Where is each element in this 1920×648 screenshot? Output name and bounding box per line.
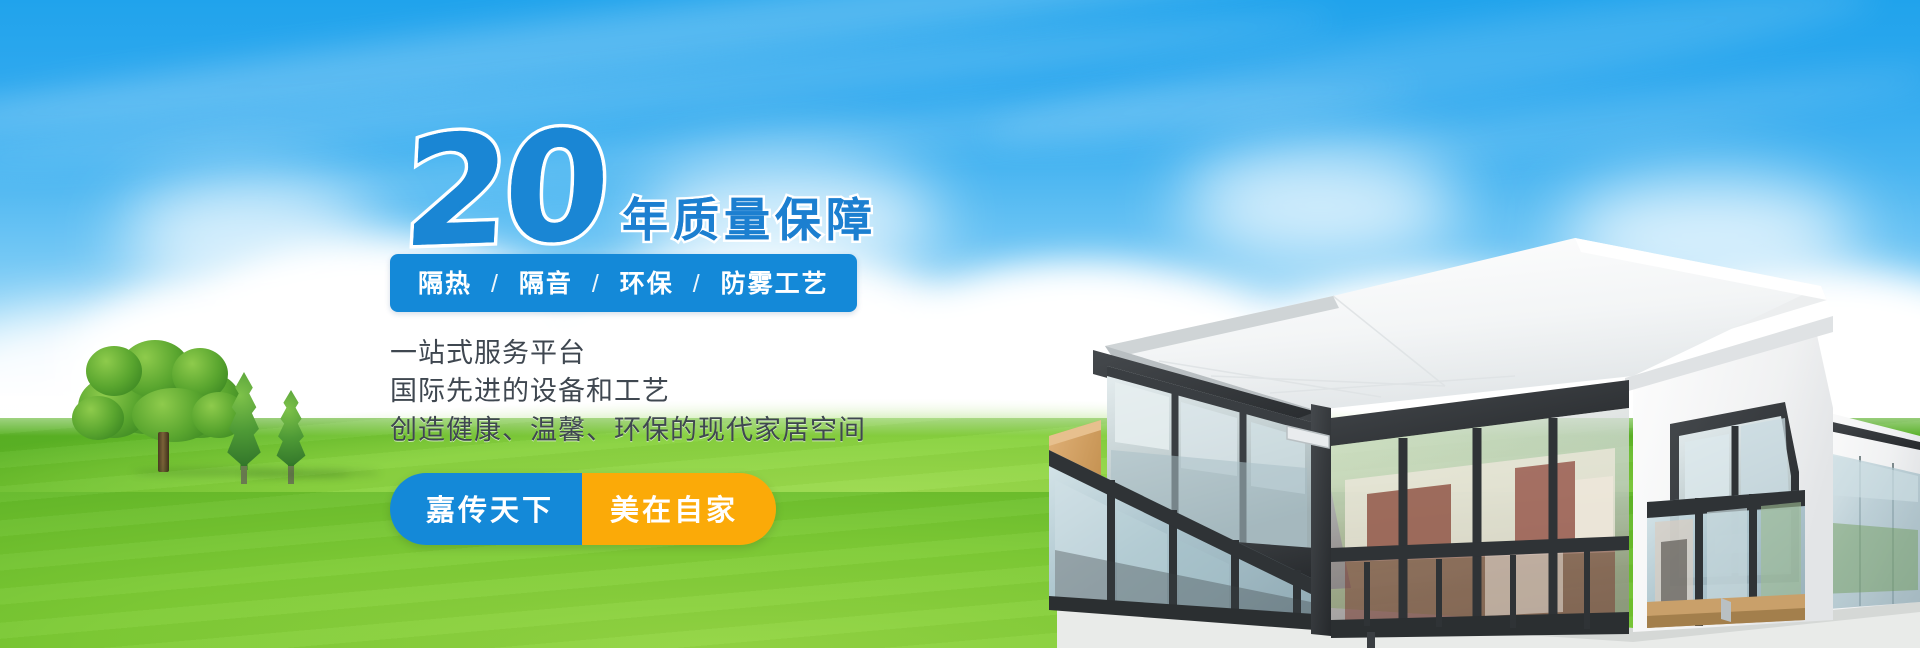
headline-suffix: 年质量保障 (622, 184, 877, 250)
banner-copy-block: 20 20 年质量保障 年质量保障 隔热 / 隔音 / 环保 / 防雾工艺 一站… (390, 118, 950, 545)
description-line-3: 创造健康、温馨、环保的现代家居空间 (390, 411, 950, 449)
feature-separator: / (693, 270, 702, 298)
description-line-2: 国际先进的设备和工艺 (390, 372, 950, 410)
feature-item-3: 防雾工艺 (721, 270, 829, 298)
feature-separator: / (491, 270, 500, 298)
promo-banner: 20 20 年质量保障 年质量保障 隔热 / 隔音 / 环保 / 防雾工艺 一站… (0, 0, 1920, 648)
description-line-1: 一站式服务平台 (390, 334, 950, 372)
cypress-tree (272, 390, 310, 470)
glass-sunroom-house (1015, 150, 1920, 648)
feature-separator: / (592, 270, 601, 298)
description-block: 一站式服务平台 国际先进的设备和工艺 创造健康、温馨、环保的现代家居空间 (390, 334, 950, 449)
cta-button-group[interactable]: 嘉传天下 美在自家 (390, 473, 776, 545)
cypress-tree (222, 372, 266, 470)
headline-number-20-ink: 20 (400, 111, 608, 270)
feature-item-2: 环保 (620, 270, 674, 298)
oak-tree-trunk (158, 432, 169, 472)
headline-row: 20 20 年质量保障 年质量保障 (390, 118, 950, 248)
cta-right-button[interactable]: 美在自家 (582, 473, 776, 545)
cta-left-button[interactable]: 嘉传天下 (390, 473, 582, 545)
